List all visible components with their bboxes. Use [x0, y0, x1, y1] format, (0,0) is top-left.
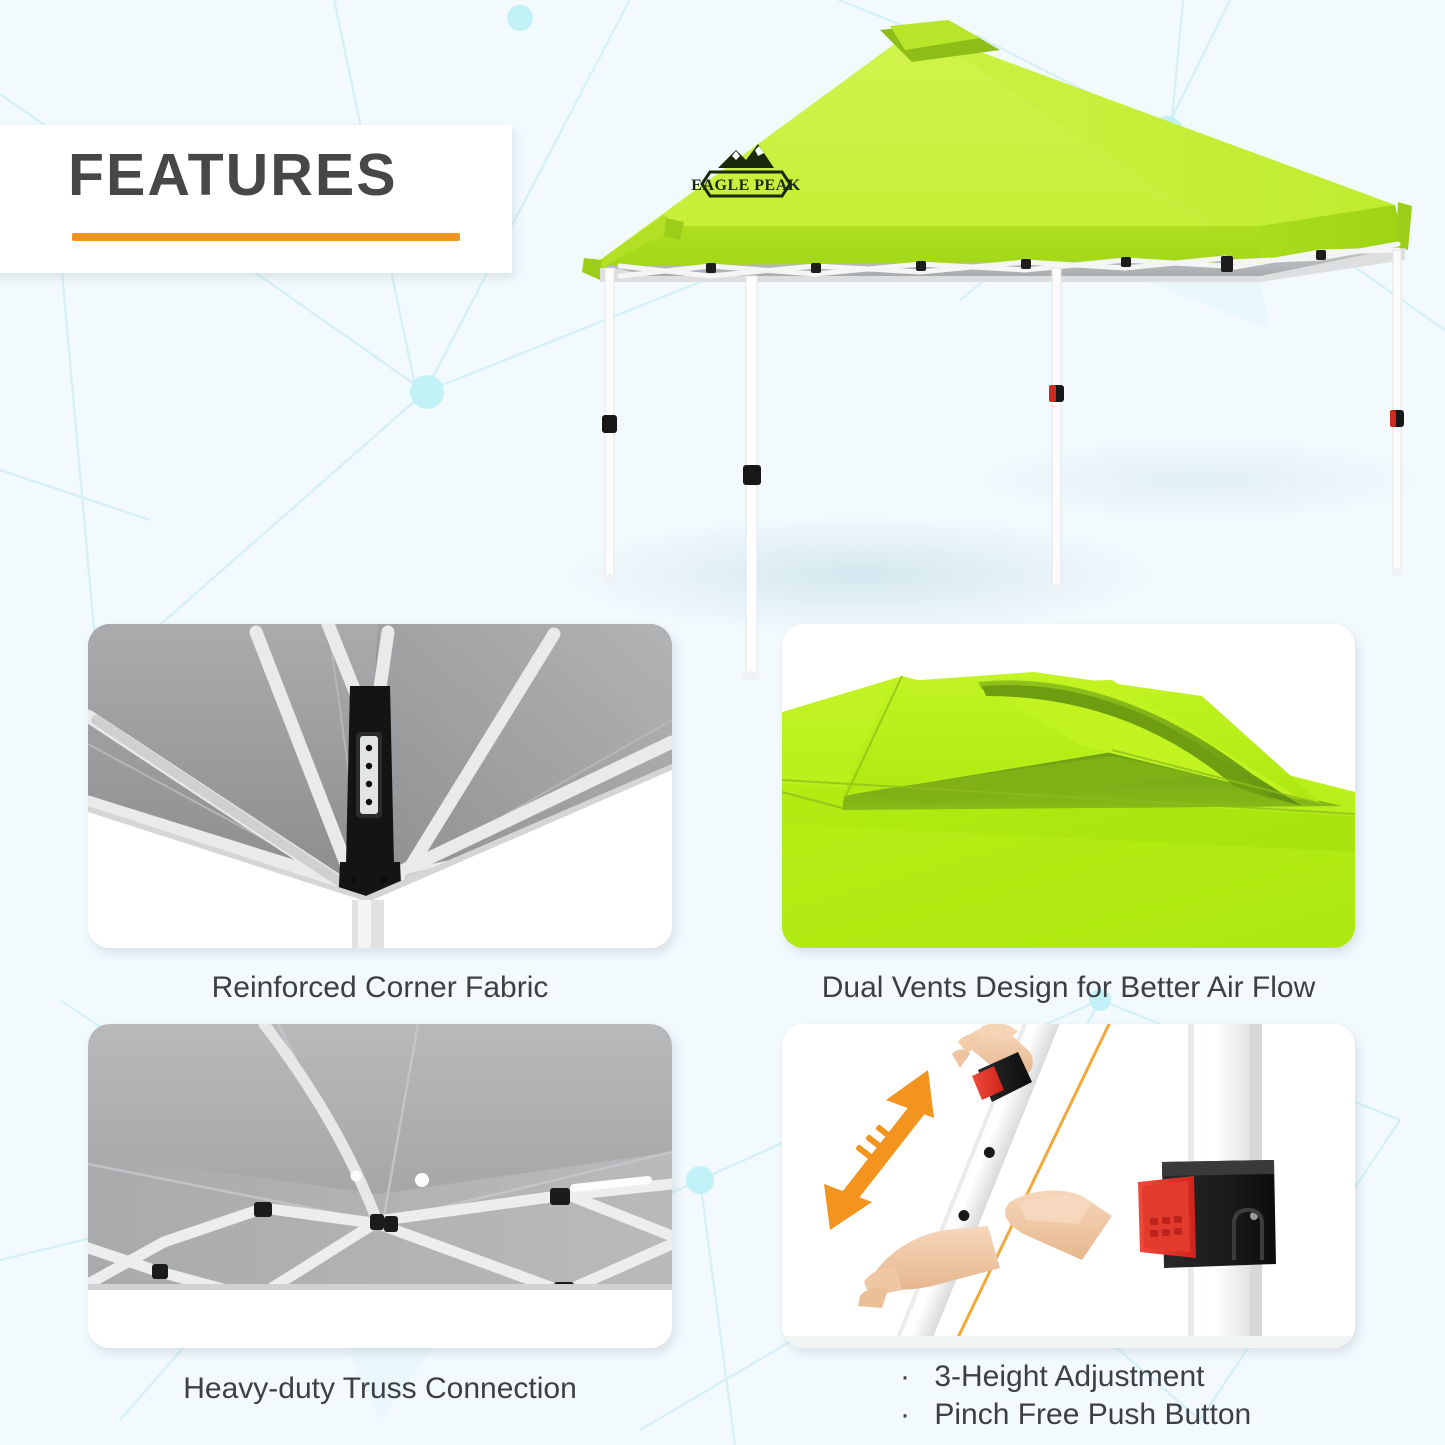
bullet-label: 3-Height Adjustment: [934, 1360, 1204, 1393]
truss-connection-photo: [88, 1024, 672, 1348]
bullet-label: Pinch Free Push Button: [934, 1398, 1251, 1431]
card-height-adjustment-push-button: [782, 1024, 1355, 1348]
features-infographic: FEATURES: [0, 0, 1445, 1445]
caption-heavy-duty-truss-connection: Heavy-duty Truss Connection: [88, 1371, 672, 1408]
caption-reinforced-corner-fabric: Reinforced Corner Fabric: [88, 970, 672, 1007]
list-item: · Pinch Free Push Button: [900, 1396, 1251, 1434]
card-dual-vents-design: [782, 624, 1355, 948]
bullet-marker: ·: [900, 1396, 926, 1434]
push-button-feature-bullets: · 3-Height Adjustment · Pinch Free Push …: [900, 1358, 1251, 1435]
height-adjustment-photo: [782, 1024, 1355, 1348]
dual-vents-photo: [782, 624, 1355, 948]
caption-dual-vents-design: Dual Vents Design for Better Air Flow: [782, 970, 1355, 1007]
card-reinforced-corner-fabric: [88, 624, 672, 948]
hero-canopy-image: EAGLE PEAK: [560, 10, 1445, 710]
title-underline-accent: [72, 233, 460, 241]
list-item: · 3-Height Adjustment: [900, 1358, 1251, 1396]
card-heavy-duty-truss-connection: [88, 1024, 672, 1348]
bullet-marker: ·: [900, 1358, 926, 1396]
corner-fabric-photo: [88, 624, 672, 948]
page-title: FEATURES: [68, 146, 398, 205]
svg-text:EAGLE PEAK: EAGLE PEAK: [691, 177, 801, 194]
